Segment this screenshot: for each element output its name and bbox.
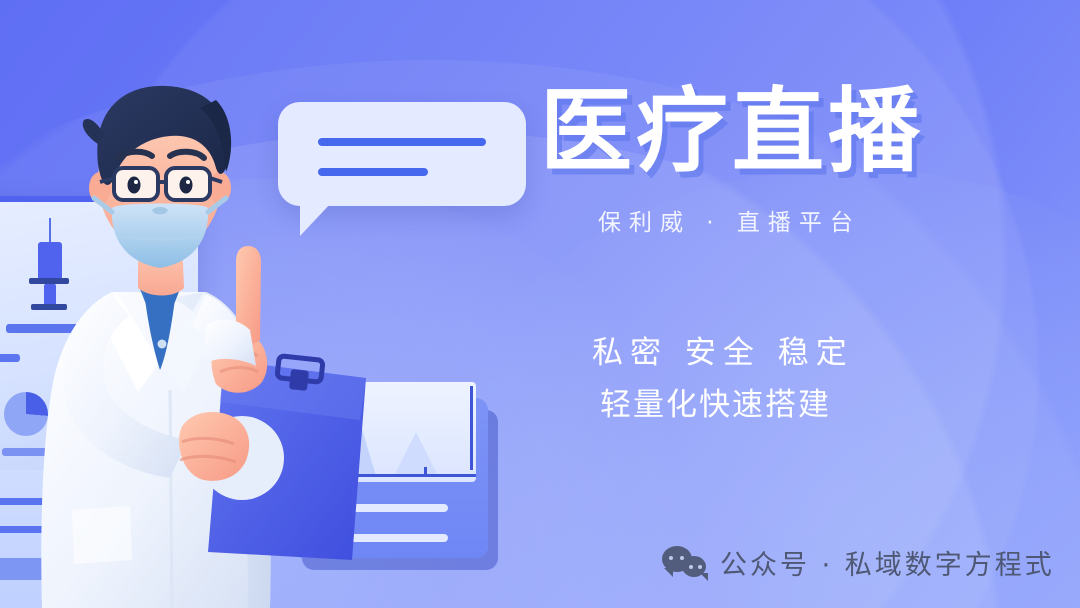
- speech-bubble-icon: [278, 102, 526, 206]
- card-bar: [0, 354, 20, 362]
- bubble-line: [318, 138, 486, 146]
- page-subtitle: 保利威 · 直播平台: [598, 203, 861, 237]
- bubble-tail: [300, 202, 332, 236]
- wechat-icon: [662, 546, 706, 580]
- footer-text: 公众号 · 私域数字方程式: [720, 543, 1055, 582]
- page-title: 医疗直播: [540, 86, 924, 178]
- tagline-secondary: 轻量化快速搭建: [600, 379, 831, 424]
- tagline-primary: 私密 安全 稳定: [592, 327, 854, 372]
- bubble-line: [318, 168, 428, 176]
- footer: 公众号 · 私域数字方程式: [662, 543, 1055, 582]
- poster-canvas: 医疗直播 保利威 · 直播平台 私密 安全 稳定 轻量化快速搭建 公众号 · 私…: [0, 0, 1080, 608]
